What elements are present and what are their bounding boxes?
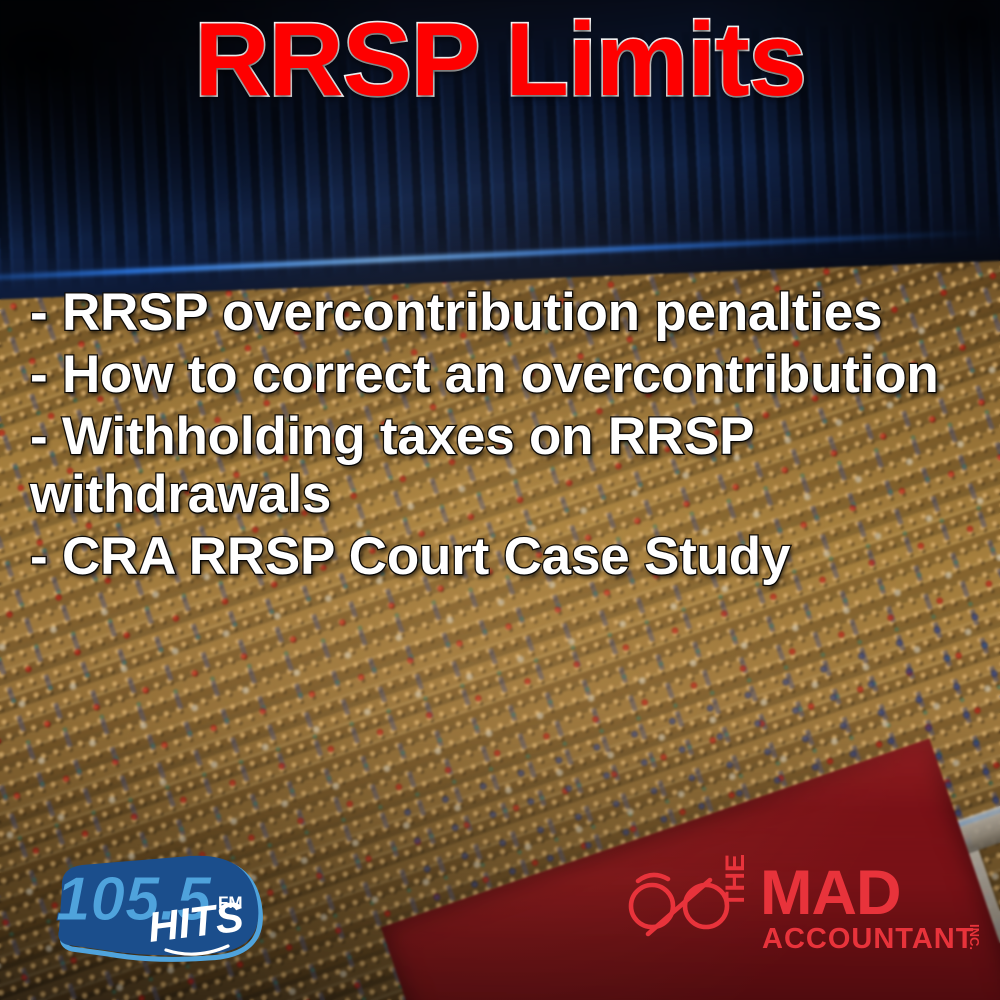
logo-inc-text: INC. — [967, 924, 982, 950]
logo-accountant-text: ACCOUNTANT — [762, 923, 974, 955]
logo-mad-text: MAD — [760, 858, 900, 928]
list-item: - Withholding taxes on RRSP withdrawals — [30, 408, 982, 524]
radio-station-logo: 105.5 FM HITS — [42, 850, 270, 962]
topic-bullet-list: - RRSP overcontribution penalties - How … — [30, 284, 982, 590]
bullet-list: - RRSP overcontribution penalties - How … — [30, 284, 982, 586]
list-item: - How to correct an overcontribution — [30, 346, 982, 404]
list-item: - RRSP overcontribution penalties — [30, 284, 982, 342]
mad-accountant-logo: THE MAD ACCOUNTANT INC. — [622, 854, 982, 958]
logo-the-text: THE — [720, 854, 750, 908]
page-title: RRSP Limits — [0, 6, 1000, 115]
list-item: - CRA RRSP Court Case Study — [30, 528, 982, 586]
percent-glasses-icon — [631, 875, 727, 934]
promo-graphic: RRSP Limits - RRSP overcontribution pena… — [0, 0, 1000, 1000]
